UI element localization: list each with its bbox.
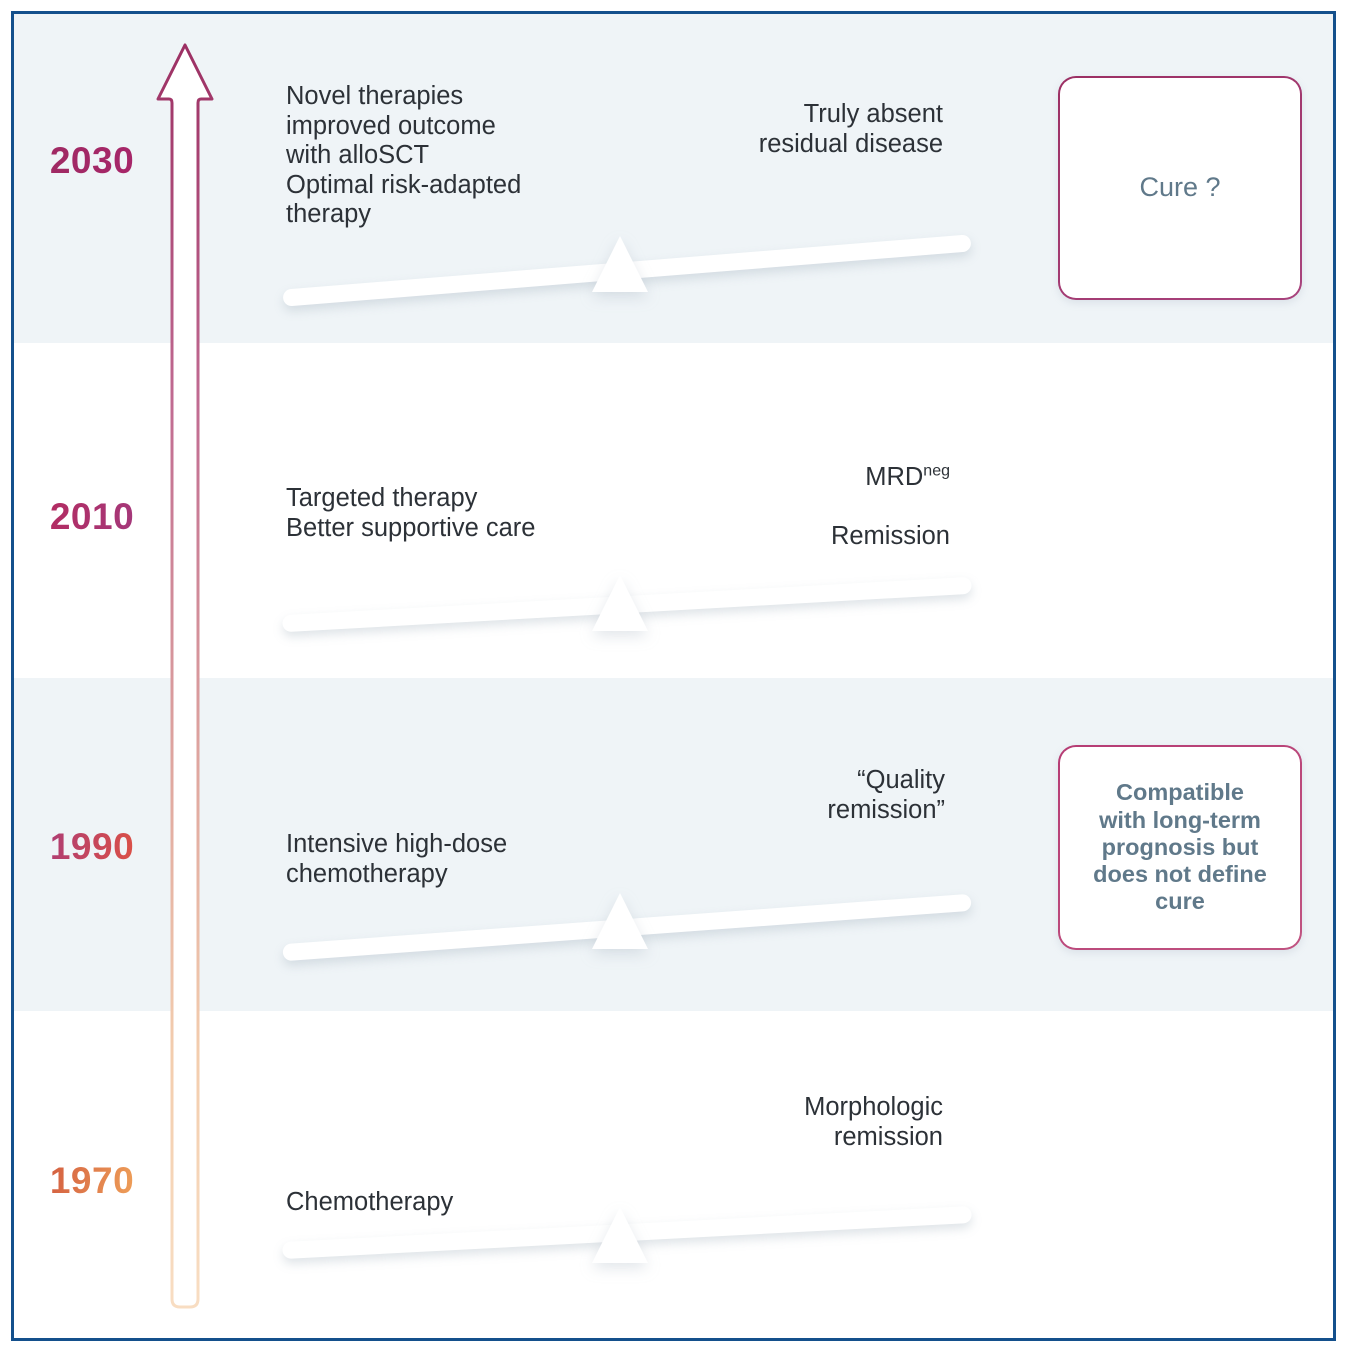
outcome-box-2030[interactable]: Cure ? (1058, 76, 1302, 300)
era-2010-right-label-line2: Remission (831, 522, 950, 550)
era-row-2030: 2030 Novel therapies improved outcome wi… (14, 14, 1333, 343)
era-2010-right-label-line1: MRDneg (865, 463, 950, 491)
figure-frame: 2030 Novel therapies improved outcome wi… (11, 11, 1336, 1341)
era-row-1970: 1970 Chemotherapy Morphologic remission … (14, 1011, 1333, 1341)
year-label-1970: 1970 (38, 1160, 146, 1202)
superscript-neg: neg (923, 462, 950, 479)
era-1990-right-label: “Quality remission” (645, 766, 945, 825)
era-1970-right-label: Morphologic remission (643, 1093, 943, 1152)
balance-fulcrum-1970 (592, 1207, 648, 1263)
balance-fulcrum-2030 (592, 236, 648, 292)
era-1990-left-label: Intensive high-dose chemotherapy (286, 830, 626, 889)
year-label-2030: 2030 (38, 140, 146, 182)
outcome-box-2030-text: Cure ? (1133, 172, 1226, 203)
balance-fulcrum-2010 (592, 575, 648, 631)
era-row-2010: 2010 Targeted therapy Better supportive … (14, 343, 1333, 678)
balance-fulcrum-1990 (592, 893, 648, 949)
era-row-1990: 1990 Intensive high-dose chemotherapy “Q… (14, 678, 1333, 1011)
era-2010-right-label: MRDneg Remission (630, 433, 950, 551)
era-1970-left-label: Chemotherapy (286, 1188, 626, 1218)
year-label-1990: 1990 (38, 826, 146, 868)
year-label-2010: 2010 (38, 496, 146, 538)
era-2010-left-label: Targeted therapy Better supportive care (286, 484, 666, 543)
era-2030-left-label: Novel therapies improved outcome with al… (286, 82, 616, 230)
era-2030-right-label: Truly absent residual disease (643, 100, 943, 159)
